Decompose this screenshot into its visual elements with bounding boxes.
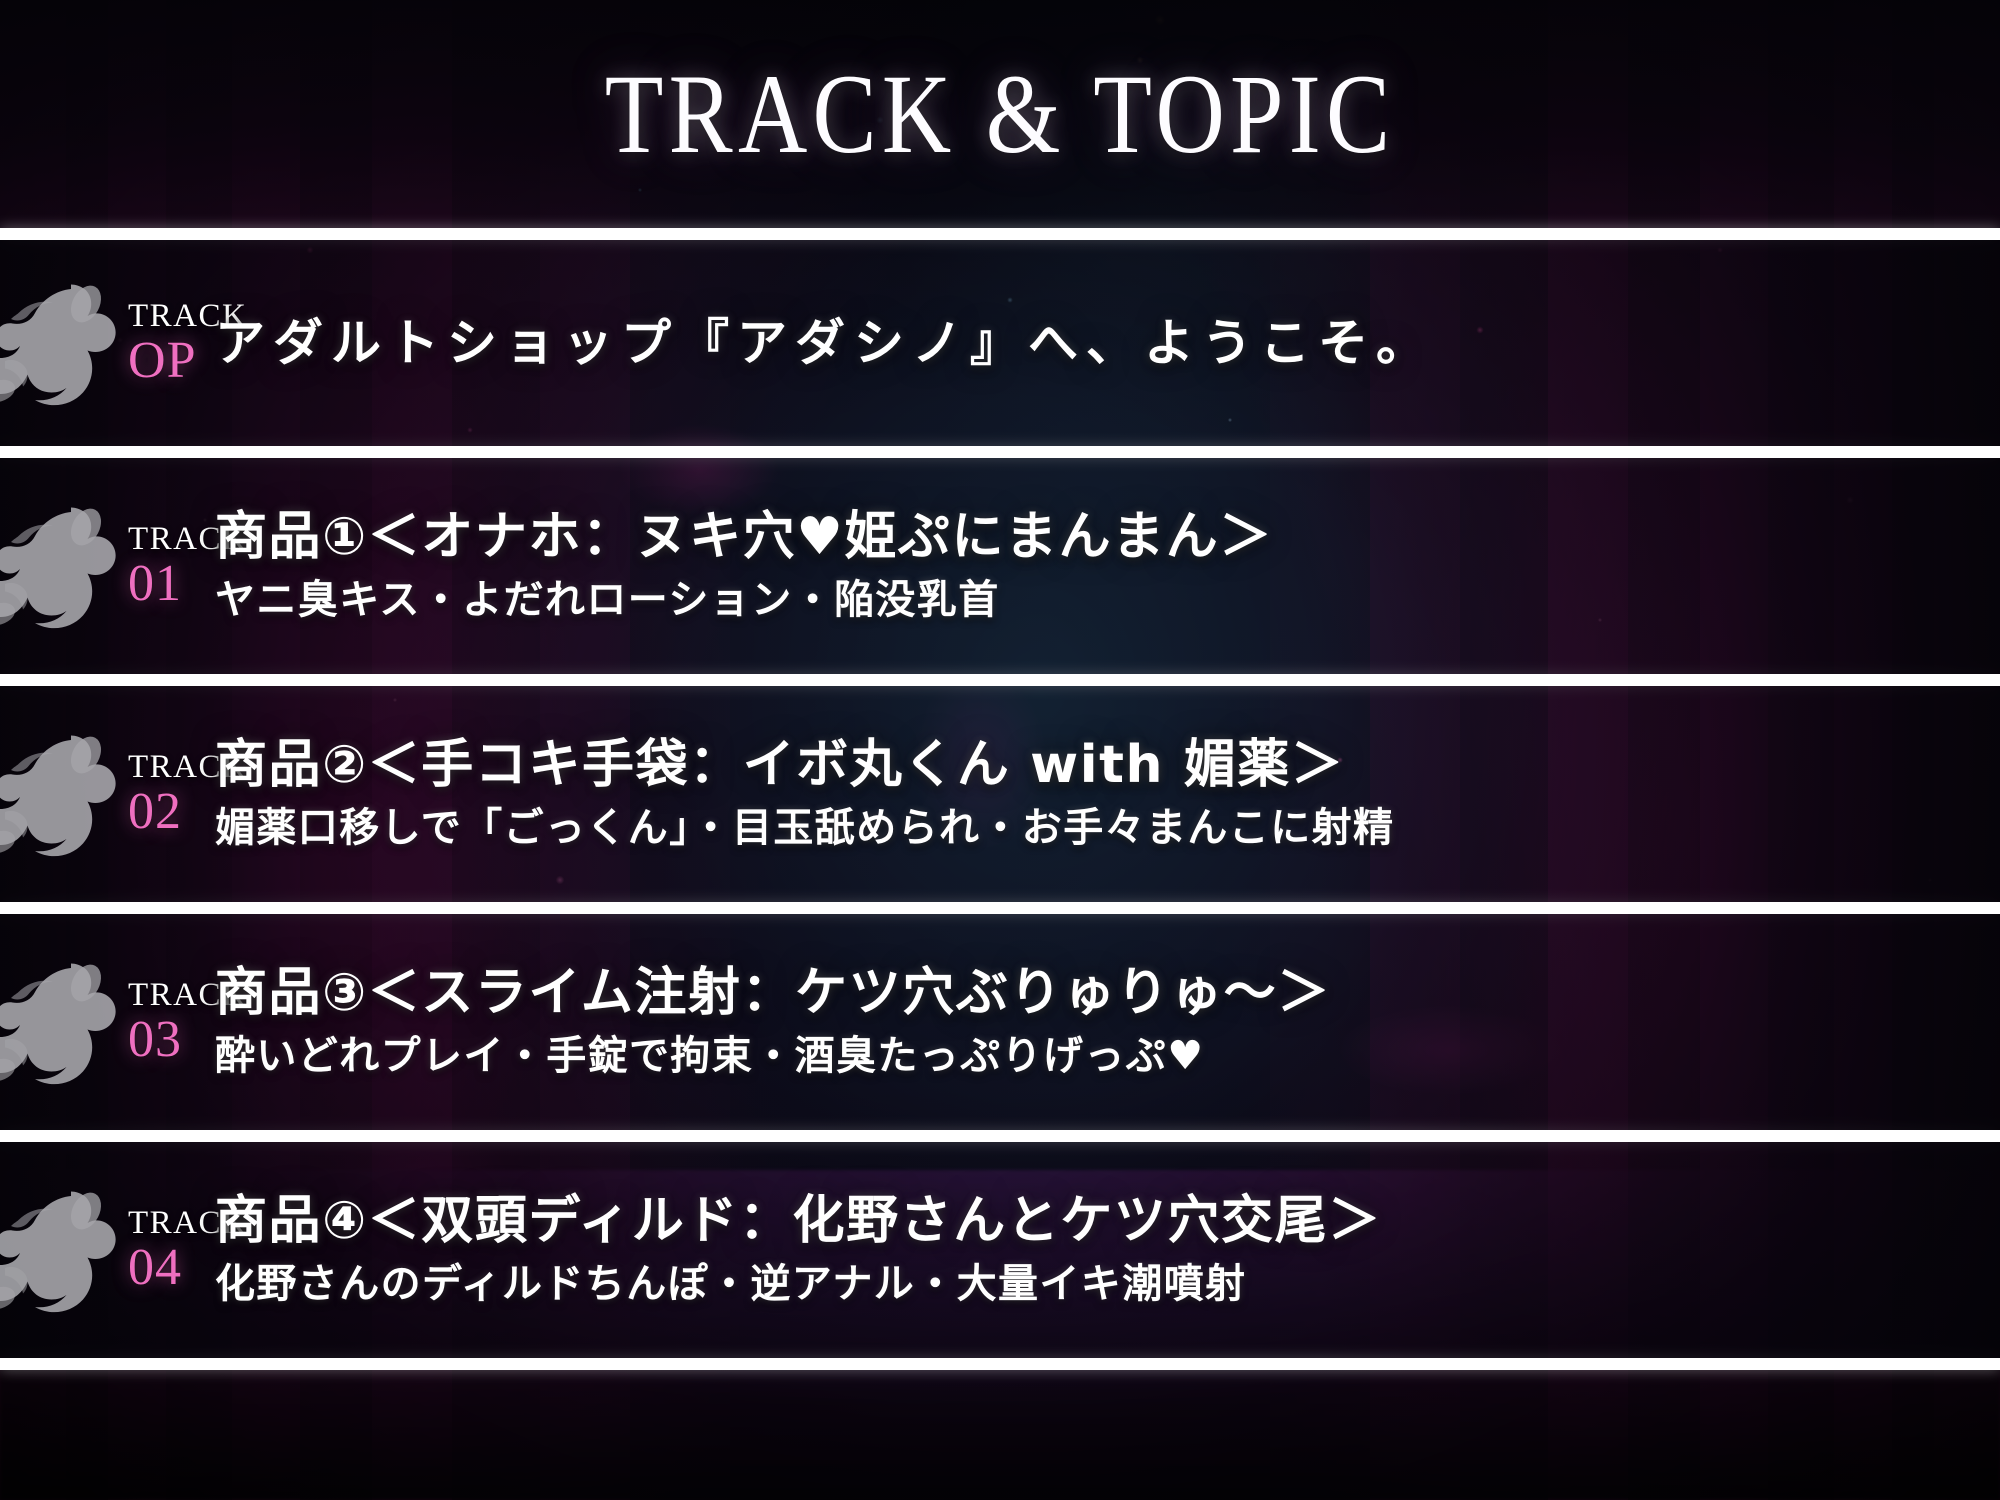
divider-below-track-01 — [0, 674, 2000, 686]
track-title: 商品①＜オナホ：ヌキ穴♥姫ぷにまんまん＞ — [215, 506, 1944, 569]
track-label: TRACKOP — [0, 299, 215, 387]
track-text: 商品①＜オナホ：ヌキ穴♥姫ぷにまんまん＞ヤニ臭キス・よだれローション・陥没乳首 — [215, 506, 2000, 625]
track-title: アダルトショップ『アダシノ』へ、ようこそ。 — [215, 313, 1944, 374]
track-list: TRACKOPアダルトショップ『アダシノ』へ、ようこそ。TRACK01商品①＜オ… — [0, 228, 2000, 1430]
track-subtitle: 媚薬口移しで「ごっくん」・目玉舐められ・お手々まんこに射精 — [215, 802, 1944, 854]
track-text: 商品②＜手コキ手袋：イボ丸くん with 媚薬＞媚薬口移しで「ごっくん」・目玉舐… — [215, 734, 2000, 853]
divider-below-track-02 — [0, 902, 2000, 914]
track-label: TRACK03 — [0, 978, 215, 1066]
track-number: 02 — [128, 785, 182, 838]
divider-below-track-op — [0, 446, 2000, 458]
track-label: TRACK04 — [0, 1206, 215, 1294]
divider-below-track-04 — [0, 1358, 2000, 1370]
track-number: 01 — [128, 557, 182, 610]
track-text: 商品③＜スライム注射：ケツ穴ぶりゅりゅ〜＞酔いどれプレイ・手錠で拘束・酒臭たっぷ… — [215, 962, 2000, 1081]
track-title: 商品②＜手コキ手袋：イボ丸くん with 媚薬＞ — [215, 734, 1944, 797]
poster-header: TRACK & TOPIC — [0, 0, 2000, 228]
track-subtitle: 化野さんのディルドちんぽ・逆アナル・大量イキ潮噴射 — [215, 1258, 1944, 1310]
track-title: 商品④＜双頭ディルド：化野さんとケツ穴交尾＞ — [215, 1190, 1944, 1253]
page-title: TRACK & TOPIC — [605, 57, 1396, 170]
footer-spacer — [0, 1370, 2000, 1430]
track-number: 04 — [128, 1241, 182, 1294]
divider-below-track-03 — [0, 1130, 2000, 1142]
track-row[interactable]: TRACK03商品③＜スライム注射：ケツ穴ぶりゅりゅ〜＞酔いどれプレイ・手錠で拘… — [0, 914, 2000, 1130]
track-subtitle: ヤニ臭キス・よだれローション・陥没乳首 — [215, 574, 1944, 626]
track-subtitle: 酔いどれプレイ・手錠で拘束・酒臭たっぷりげっぷ♥ — [215, 1030, 1944, 1082]
track-row[interactable]: TRACKOPアダルトショップ『アダシノ』へ、ようこそ。 — [0, 240, 2000, 446]
track-number: OP — [128, 334, 197, 387]
track-row[interactable]: TRACK01商品①＜オナホ：ヌキ穴♥姫ぷにまんまん＞ヤニ臭キス・よだれローショ… — [0, 458, 2000, 674]
track-topic-poster: TRACK & TOPIC TRACKOPアダルトショップ『アダシノ』へ、ようこ… — [0, 0, 2000, 1500]
track-text: アダルトショップ『アダシノ』へ、ようこそ。 — [215, 313, 2000, 374]
divider-top — [0, 228, 2000, 240]
track-text: 商品④＜双頭ディルド：化野さんとケツ穴交尾＞化野さんのディルドちんぽ・逆アナル・… — [215, 1190, 2000, 1309]
track-row[interactable]: TRACK04商品④＜双頭ディルド：化野さんとケツ穴交尾＞化野さんのディルドちん… — [0, 1142, 2000, 1358]
track-label: TRACK01 — [0, 522, 215, 610]
track-row[interactable]: TRACK02商品②＜手コキ手袋：イボ丸くん with 媚薬＞媚薬口移しで「ごっ… — [0, 686, 2000, 902]
track-number: 03 — [128, 1013, 182, 1066]
track-title: 商品③＜スライム注射：ケツ穴ぶりゅりゅ〜＞ — [215, 962, 1944, 1025]
track-label: TRACK02 — [0, 750, 215, 838]
